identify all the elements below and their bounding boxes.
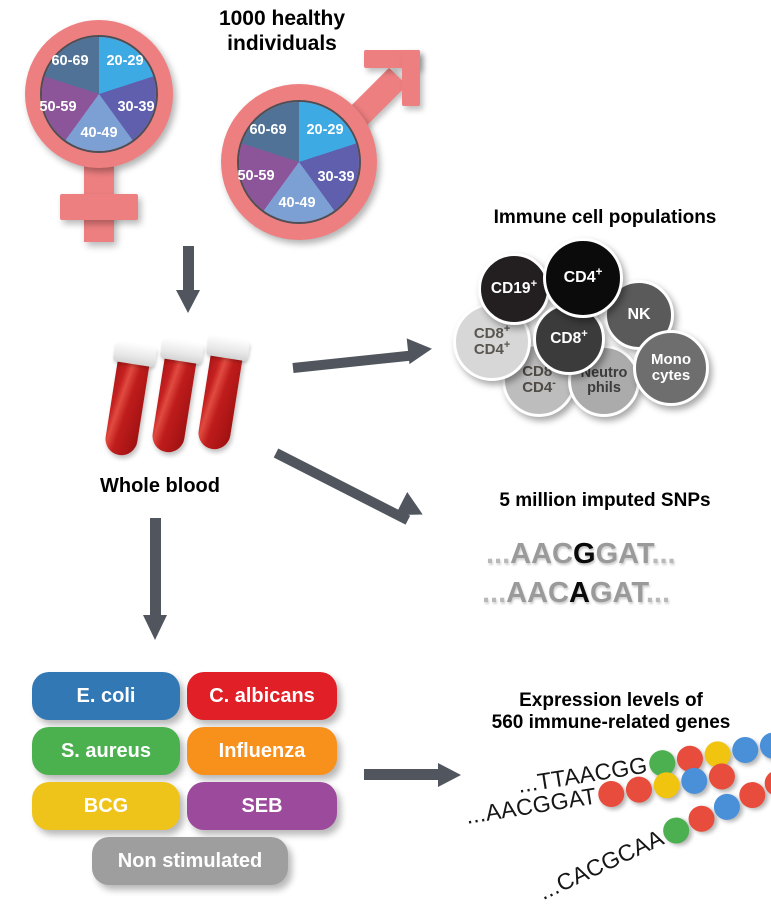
stimulus-c-albicans[interactable]: C. albicans bbox=[187, 672, 337, 720]
snps-title: 5 million imputed SNPs bbox=[450, 490, 760, 512]
snp-suffix: ... bbox=[651, 538, 675, 570]
male-symbol: 20-29 30-39 40-49 50-59 60-69 bbox=[210, 40, 425, 245]
immune-cell-label: CD4 bbox=[564, 269, 596, 286]
female-pie-label-30-39: 30-39 bbox=[117, 99, 154, 115]
immune-cell-sup: + bbox=[581, 328, 588, 340]
stimulus-label: Influenza bbox=[219, 740, 306, 763]
immune-cell-sup: + bbox=[531, 278, 538, 290]
snp-sequence-row: ...AACAGAT... bbox=[482, 577, 670, 610]
snp-suffix: ... bbox=[646, 577, 670, 609]
immune-cells-group: CD19+ CD4+ CD8+ CD4+ CD8+ NK CD8- CD4- bbox=[455, 235, 765, 420]
immune-title: Immune cell populations bbox=[450, 207, 760, 229]
stimulus-e-coli[interactable]: E. coli bbox=[32, 672, 180, 720]
rna-bead bbox=[730, 735, 760, 765]
expression-title: Expression levels of 560 immune-related … bbox=[455, 690, 767, 735]
immune-cell-label-line2: cytes bbox=[652, 367, 690, 384]
snp-variant: A bbox=[569, 577, 590, 609]
rna-bead bbox=[596, 779, 626, 809]
immune-cell-sup2: + bbox=[504, 339, 510, 351]
snp-prefix: ... bbox=[486, 538, 510, 570]
snp-right: GAT bbox=[596, 538, 652, 570]
rna-bead bbox=[679, 765, 709, 795]
expression-title-line1: Expression levels of bbox=[455, 690, 767, 712]
expression-title-line2: 560 immune-related genes bbox=[455, 712, 767, 734]
stimulus-label: SEB bbox=[241, 795, 282, 818]
male-pie-label-50-59: 50-59 bbox=[237, 168, 274, 184]
rna-bead bbox=[652, 770, 682, 800]
immune-cell-label: CD19 bbox=[491, 280, 531, 297]
blood-tube bbox=[150, 339, 199, 455]
rna-bead bbox=[758, 730, 771, 760]
immune-cell-cd4: CD4+ bbox=[543, 238, 623, 318]
immune-cell-label-line2: phils bbox=[587, 380, 621, 396]
stimulus-label: E. coli bbox=[77, 685, 136, 708]
female-crossbar bbox=[60, 194, 138, 220]
snp-right: GAT bbox=[590, 577, 646, 609]
female-pie-label-40-49: 40-49 bbox=[80, 125, 117, 141]
stimulus-label: S. aureus bbox=[61, 740, 151, 763]
stimulus-label: C. albicans bbox=[209, 685, 315, 708]
immune-cell-label-line2: CD4 bbox=[474, 341, 504, 358]
female-symbol: 20-29 30-39 40-49 50-59 60-69 bbox=[8, 14, 208, 244]
immune-cell-label-line1: Mono bbox=[651, 351, 691, 368]
immune-cell-monocytes: Mono cytes bbox=[633, 330, 709, 406]
stimulus-label: BCG bbox=[84, 795, 128, 818]
female-pie-label-60-69: 60-69 bbox=[51, 53, 88, 69]
immune-cell-cd19: CD19+ bbox=[478, 253, 550, 325]
male-pie-label-40-49: 40-49 bbox=[278, 195, 315, 211]
stimulus-label: Non stimulated bbox=[118, 850, 262, 873]
snp-left: AAC bbox=[506, 577, 569, 609]
male-pie-label-20-29: 20-29 bbox=[306, 122, 343, 138]
stimulus-bcg[interactable]: BCG bbox=[32, 782, 180, 830]
female-pie-label-50-59: 50-59 bbox=[39, 99, 76, 115]
snp-sequence-row: ...AACGGAT... bbox=[486, 538, 676, 571]
male-pie-label-60-69: 60-69 bbox=[249, 122, 286, 138]
stimulus-seb[interactable]: SEB bbox=[187, 782, 337, 830]
whole-blood-label: Whole blood bbox=[70, 475, 250, 499]
rna-sequence: ...CACGCAA bbox=[534, 824, 668, 905]
stimulus-s-aureus[interactable]: S. aureus bbox=[32, 727, 180, 775]
immune-cell-label: CD8 bbox=[550, 330, 581, 347]
immune-cell-label-line1: CD8 bbox=[474, 325, 504, 342]
rna-bead bbox=[624, 774, 654, 804]
immune-cell-label-line2: CD4 bbox=[522, 379, 552, 396]
stimulus-non-stimulated[interactable]: Non stimulated bbox=[92, 837, 288, 885]
cohort-title-line1: 1000 healthy bbox=[183, 7, 381, 32]
stimuli-group: E. coli C. albicans S. aureus Influenza … bbox=[32, 672, 352, 902]
snp-left: AAC bbox=[510, 538, 573, 570]
male-pie-label-30-39: 30-39 bbox=[317, 169, 354, 185]
rna-bead bbox=[707, 761, 737, 791]
blood-tube bbox=[196, 336, 245, 452]
blood-tube bbox=[103, 342, 152, 458]
snp-variant: G bbox=[573, 538, 596, 570]
diagram-canvas: 1000 healthy individuals 20-29 30-39 40-… bbox=[0, 0, 771, 922]
immune-cell-sup1: + bbox=[504, 323, 510, 335]
blood-tubes-group bbox=[95, 335, 255, 460]
immune-cell-sup2: - bbox=[552, 377, 556, 389]
snp-prefix: ... bbox=[482, 577, 506, 609]
male-arrowhead-vertical bbox=[402, 50, 420, 106]
immune-cell-sup: + bbox=[596, 266, 603, 278]
female-pie-label-20-29: 20-29 bbox=[106, 53, 143, 69]
stimulus-influenza[interactable]: Influenza bbox=[187, 727, 337, 775]
immune-cell-label: NK bbox=[627, 307, 650, 324]
